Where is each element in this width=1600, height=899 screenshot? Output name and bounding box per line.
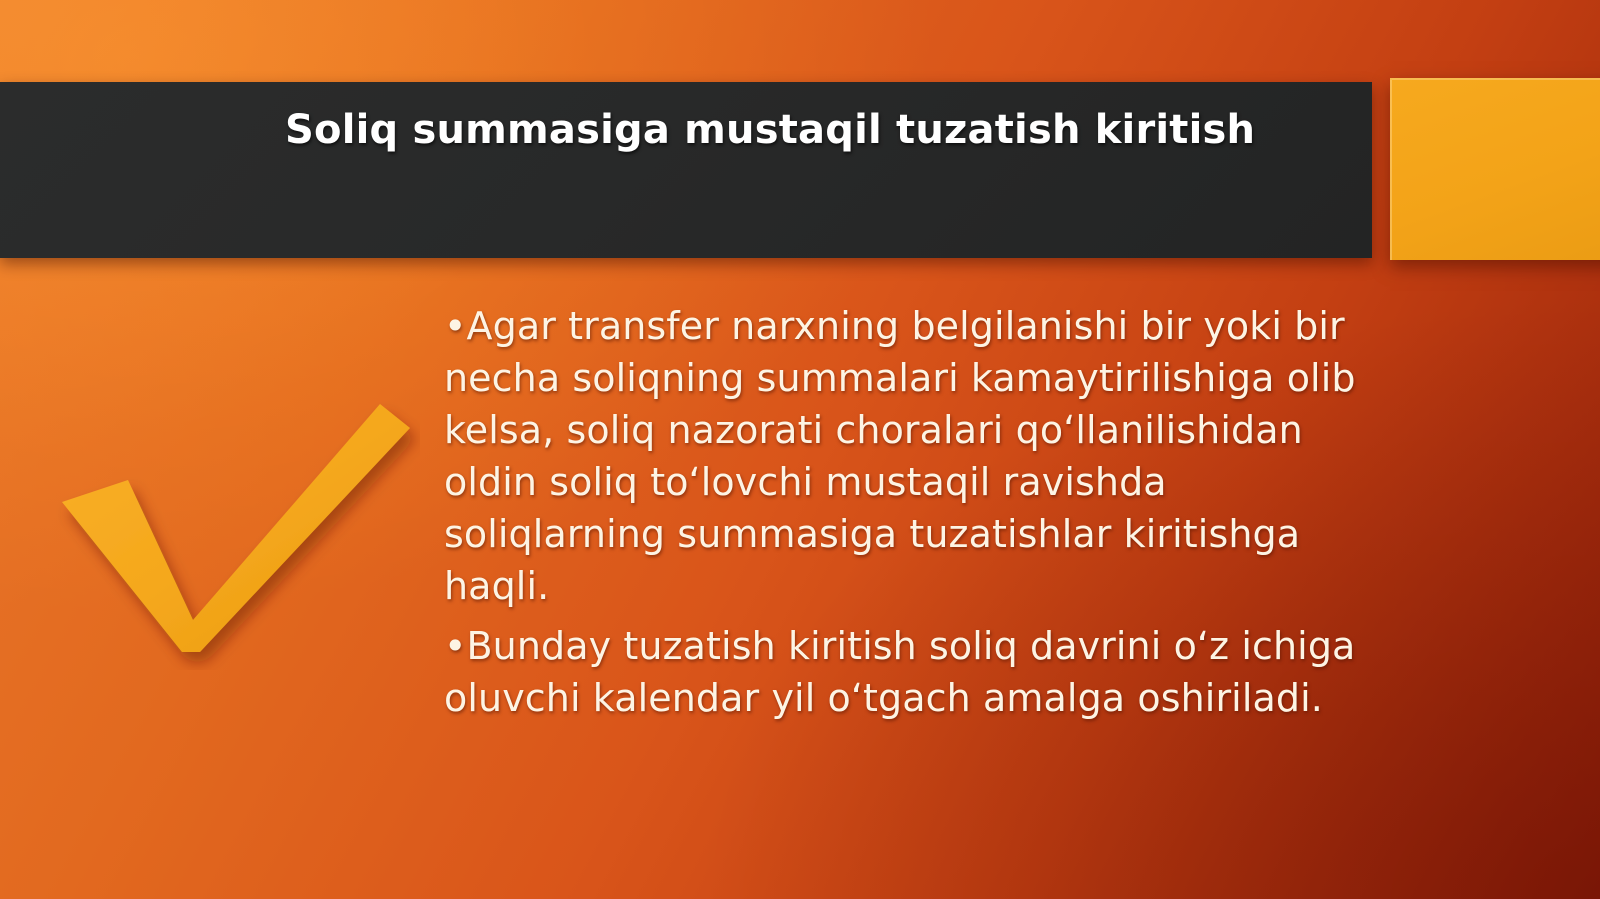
slide-body: •Agar transfer narxning belgilanishi bir… xyxy=(444,300,1364,724)
bullet-paragraph-2: •Bunday tuzatish kiritish soliq davrini … xyxy=(444,620,1364,724)
presentation-slide: Soliq summasiga mustaqil tuzatish kiriti… xyxy=(0,0,1600,899)
accent-rectangle xyxy=(1390,78,1600,260)
checkmark-icon xyxy=(50,390,420,670)
slide-title-bar: Soliq summasiga mustaqil tuzatish kiriti… xyxy=(0,82,1372,258)
page-title: Soliq summasiga mustaqil tuzatish kiriti… xyxy=(285,104,1305,157)
bullet-paragraph-1: •Agar transfer narxning belgilanishi bir… xyxy=(444,300,1364,612)
